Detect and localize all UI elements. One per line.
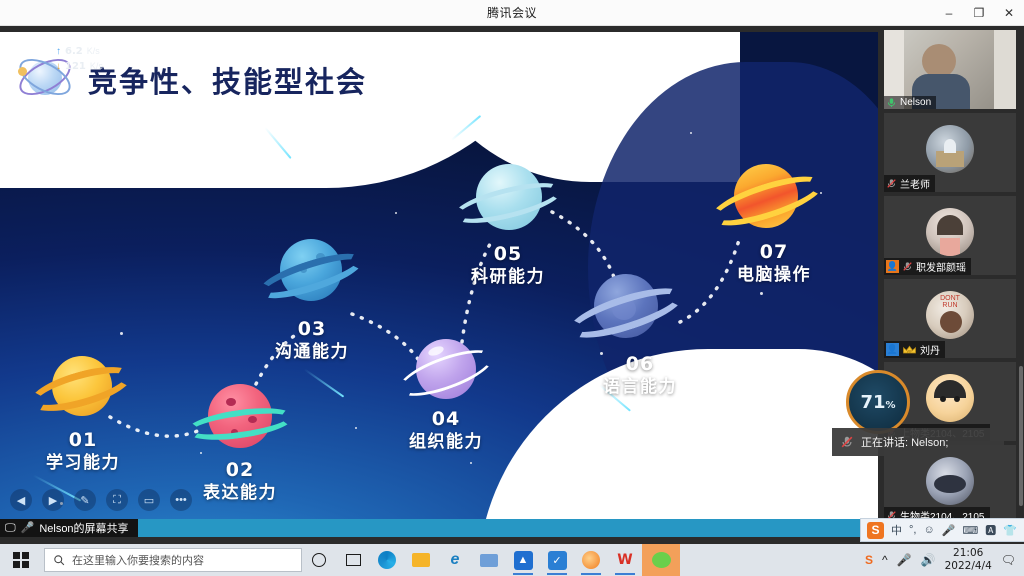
slide-item-06-label: 语言能力 — [584, 376, 696, 398]
participant-tile-nelson[interactable]: Nelson — [884, 30, 1016, 109]
slide-item-04: 04 组织能力 — [396, 337, 496, 409]
slide-item-03-number: 03 — [256, 319, 368, 341]
taskbar-search-box[interactable]: 在这里输入你要搜索的内容 — [44, 548, 302, 572]
avatar — [926, 374, 974, 422]
ime-keyboard-icon[interactable]: ⌨ — [962, 524, 978, 537]
ime-emoji-icon[interactable]: ☺ — [923, 524, 934, 536]
participant-nameplate: 👤 职发部颜瑶 — [884, 258, 971, 275]
slide-item-01-number: 01 — [24, 430, 142, 452]
clock-date: 2022/4/4 — [945, 560, 992, 573]
slide-item-01-label: 学习能力 — [24, 452, 142, 474]
gauge-percent: 71 — [860, 392, 885, 413]
participant-tile-liudan[interactable]: DONT RUN 👤 VIP 刘丹 — [884, 279, 1016, 358]
tencent-meeting-window: 腾讯会议 – ❐ ✕ — [0, 0, 1024, 576]
slide-item-04-label: 组织能力 — [394, 431, 498, 453]
download-arrow-icon: ↓ — [56, 59, 61, 74]
slide-item-07-number: 07 — [720, 242, 828, 264]
pen-annotate-button[interactable]: ✎ — [74, 489, 96, 511]
share-banner-label: Nelson的屏幕共享 — [39, 520, 128, 536]
gauge-ring: 71% — [846, 370, 910, 434]
tencent-meeting-icon[interactable]: ▲ — [506, 544, 540, 576]
slide-item-02: 02 表达能力 — [186, 384, 294, 460]
sogou-ime-bar[interactable]: S 中 °, ☺ 🎤 ⌨ 🅰 👕 ▦ — [860, 518, 1024, 542]
windows-taskbar: 在这里输入你要搜索的内容 e ▲ ✓ W — [0, 544, 1024, 576]
host-badge-icon: 👤 — [886, 260, 899, 273]
wechat-icon[interactable] — [642, 544, 680, 576]
speaking-toast-text: 正在讲话: Nelson; — [861, 434, 948, 450]
planet-pink-teal-ring-icon — [186, 384, 294, 460]
window-controls: – ❐ ✕ — [934, 0, 1024, 26]
mic-muted-icon — [886, 178, 897, 189]
participant-nameplate: 兰老师 — [884, 175, 935, 192]
chevron-up-icon[interactable]: ^ — [882, 553, 888, 567]
sogou-icon[interactable]: S — [865, 553, 873, 567]
participant-name: 刘丹 — [920, 342, 940, 357]
presenter-view-button[interactable]: ▭ — [138, 489, 160, 511]
next-slide-button[interactable]: ▶ — [42, 489, 64, 511]
participant-tile-shengwulei-b[interactable]: 生物类2104、2105 — [884, 445, 1016, 524]
slide-item-07-label: 电脑操作 — [720, 264, 828, 286]
notification-icon[interactable]: 🗨 — [1001, 553, 1016, 567]
saturn-yellow-icon — [28, 352, 134, 432]
slide-item-04-number: 04 — [394, 409, 498, 431]
windows-logo-icon — [13, 552, 29, 568]
mic-muted-icon — [840, 435, 854, 449]
saturn-orange-icon — [708, 162, 826, 244]
slide-item-01: 01 学习能力 — [28, 352, 134, 432]
slide-item-03: 03 沟通能力 — [256, 237, 366, 317]
file-explorer-icon[interactable] — [404, 544, 438, 576]
slide-item-05-number: 05 — [452, 244, 564, 266]
participant-nameplate: 👤 VIP 刘丹 — [884, 341, 945, 358]
participant-name: Nelson — [900, 97, 931, 108]
participant-nameplate: Nelson — [884, 96, 936, 109]
mic-icon[interactable]: 🎤 — [897, 553, 912, 567]
previous-slide-button[interactable]: ◀ — [10, 489, 32, 511]
slide-item-02-number: 02 — [184, 460, 296, 482]
shared-screen-area[interactable]: 竞争性、技能型社会 01 学习能力 — [0, 32, 878, 519]
ime-punctuation[interactable]: °, — [909, 524, 916, 536]
slide-item-05: 05 科研能力 — [452, 162, 564, 242]
avatar — [926, 208, 974, 256]
zoom-region-button[interactable]: ⛶ — [106, 489, 128, 511]
clock-time: 21:06 — [945, 547, 992, 560]
maximize-button[interactable]: ❐ — [964, 0, 994, 26]
camera-badge-icon: 👤 — [886, 343, 899, 356]
volume-icon[interactable]: 🔊 — [921, 553, 936, 567]
cortana-icon[interactable] — [302, 544, 336, 576]
search-placeholder: 在这里输入你要搜索的内容 — [72, 552, 204, 568]
internet-explorer-icon[interactable]: e — [438, 544, 472, 576]
remote-desktop-icon[interactable] — [472, 544, 506, 576]
participant-strip[interactable]: Nelson 兰老师 — [878, 26, 1024, 544]
network-speed-gauge[interactable]: 71% — [846, 370, 910, 434]
taskbar-clock[interactable]: 21:06 2022/4/4 — [945, 547, 992, 573]
slide-item-02-label: 表达能力 — [184, 482, 296, 504]
meeting-body: 竞争性、技能型社会 01 学习能力 — [0, 26, 1024, 544]
wechat-work-icon[interactable]: ✓ — [540, 544, 574, 576]
presentation-slide: 竞争性、技能型社会 01 学习能力 — [0, 32, 878, 519]
sogou-icon[interactable]: S — [867, 522, 884, 539]
participant-tile-zhifabu-yanyao[interactable]: 👤 职发部颜瑶 — [884, 196, 1016, 275]
network-speed-readout: ↑ 6.2 K/s ↓ 121 K/s — [56, 44, 136, 74]
participant-name: 职发部颜瑶 — [916, 259, 966, 274]
mic-on-icon: 🎤 — [21, 523, 35, 534]
planet-purple-white-ring-icon — [396, 337, 496, 409]
system-tray: S ^ 🎤 🔊 21:06 2022/4/4 🗨 — [865, 547, 1024, 573]
mic-on-icon — [886, 97, 897, 108]
download-speed: 121 — [65, 59, 86, 74]
window-title: 腾讯会议 — [487, 4, 537, 21]
close-button[interactable]: ✕ — [994, 0, 1024, 26]
svg-text:VIP: VIP — [907, 349, 914, 353]
participant-name: 兰老师 — [900, 176, 930, 191]
slide-item-06-number: 06 — [584, 354, 696, 376]
slide-item-07: 07 电脑操作 — [708, 162, 826, 244]
slide-item-03-label: 沟通能力 — [256, 341, 368, 363]
saturn-blue-icon — [256, 237, 366, 317]
wps-icon[interactable]: W — [608, 544, 642, 576]
planet-cyan-icon — [452, 162, 564, 242]
upload-speed: 6.2 — [65, 44, 83, 59]
upload-speed-unit: K/s — [87, 44, 100, 59]
search-icon — [53, 554, 65, 566]
presentation-controls: ◀ ▶ ✎ ⛶ ▭ ••• — [10, 489, 192, 511]
upload-arrow-icon: ↑ — [56, 44, 61, 59]
avatar — [926, 457, 974, 505]
more-options-button[interactable]: ••• — [170, 489, 192, 511]
gauge-percent-unit: % — [886, 400, 896, 411]
download-speed-unit: K/s — [90, 59, 103, 74]
slide-item-05-label: 科研能力 — [452, 266, 564, 288]
ime-mode-chinese[interactable]: 中 — [891, 522, 902, 538]
ime-handwriting-icon[interactable]: 🅰 — [985, 522, 996, 538]
participant-scrollbar[interactable] — [1019, 366, 1023, 506]
ime-skin-icon[interactable]: 👕 — [1003, 524, 1017, 537]
mic-muted-icon — [902, 261, 913, 272]
task-view-icon[interactable] — [336, 544, 370, 576]
edge-icon[interactable] — [370, 544, 404, 576]
slide-item-06: 06 语言能力 — [566, 270, 686, 354]
minimize-button[interactable]: – — [934, 0, 964, 26]
avatar: DONT RUN — [926, 291, 974, 339]
speaking-toast: 正在讲话: Nelson; — [832, 428, 1004, 456]
window-titlebar: 腾讯会议 – ❐ ✕ — [0, 0, 1024, 26]
avatar — [926, 125, 974, 173]
saturn-steel-blue-icon — [566, 270, 686, 354]
browser-orange-icon[interactable] — [574, 544, 608, 576]
vip-crown-icon: VIP — [902, 344, 917, 356]
share-banner: 🖵 🎤 Nelson的屏幕共享 — [0, 519, 138, 537]
participant-tile-lan-laoshi[interactable]: 兰老师 — [884, 113, 1016, 192]
ime-voice-icon[interactable]: 🎤 — [942, 524, 956, 537]
start-button[interactable] — [0, 544, 42, 576]
monitor-icon: 🖵 — [5, 523, 16, 534]
